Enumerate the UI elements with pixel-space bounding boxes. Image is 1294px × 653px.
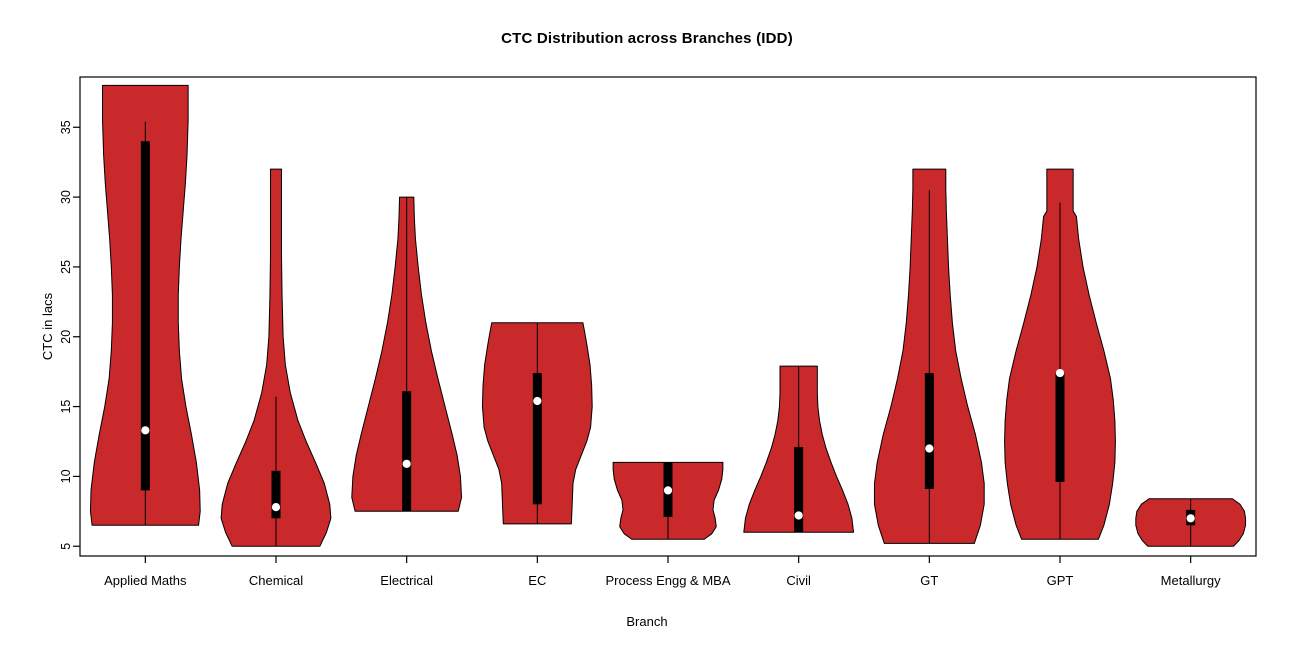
median-marker xyxy=(141,426,149,434)
x-axis-category-label: Electrical xyxy=(380,573,433,588)
violin-plot: 5101520253035Applied MathsChemicalElectr… xyxy=(0,0,1294,653)
median-marker xyxy=(925,444,933,452)
iqr-box xyxy=(533,373,542,504)
x-axis-category-label: Process Engg & MBA xyxy=(606,573,731,588)
iqr-box xyxy=(925,373,934,489)
median-marker xyxy=(1056,369,1064,377)
y-axis-tick-label: 10 xyxy=(59,469,73,483)
x-axis-category-label: GPT xyxy=(1047,573,1074,588)
median-marker xyxy=(272,503,280,511)
median-marker xyxy=(664,486,672,494)
x-axis-category-label: Metallurgy xyxy=(1161,573,1221,588)
median-marker xyxy=(403,460,411,468)
y-axis-tick-label: 15 xyxy=(59,400,73,414)
iqr-box xyxy=(141,141,150,490)
y-axis-tick-label: 20 xyxy=(59,330,73,344)
iqr-box xyxy=(1056,373,1065,482)
x-axis-category-label: GT xyxy=(920,573,938,588)
x-axis-category-label: Civil xyxy=(786,573,811,588)
y-axis-tick-label: 35 xyxy=(59,120,73,134)
median-marker xyxy=(795,511,803,519)
median-marker xyxy=(1187,514,1195,522)
violin-group xyxy=(90,85,1245,546)
median-marker xyxy=(533,397,541,405)
y-axis-tick-label: 25 xyxy=(59,260,73,274)
x-axis-category-label: EC xyxy=(528,573,546,588)
x-axis-category-label: Chemical xyxy=(249,573,303,588)
x-axis-category-label: Applied Maths xyxy=(104,573,187,588)
chart-canvas: CTC Distribution across Branches (IDD) C… xyxy=(0,0,1294,653)
y-axis-tick-label: 5 xyxy=(59,543,73,550)
iqr-box xyxy=(402,391,411,511)
y-axis-tick-label: 30 xyxy=(59,190,73,204)
